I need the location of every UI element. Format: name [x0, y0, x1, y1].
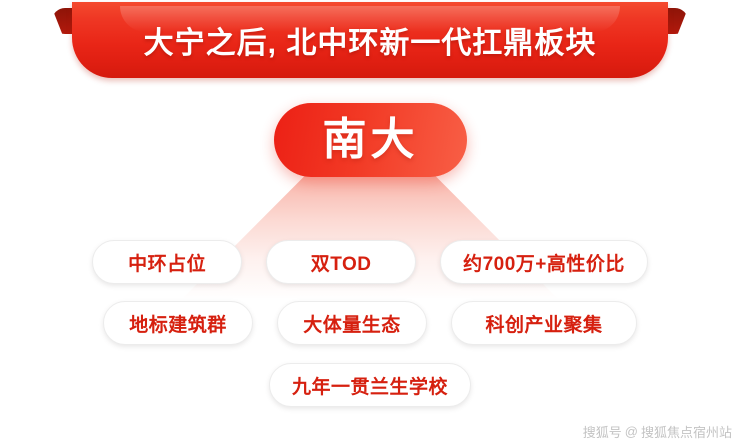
feature-pill[interactable]: 科创产业聚集: [451, 301, 637, 345]
feature-pill[interactable]: 中环占位: [92, 240, 242, 284]
watermark-prefix: 搜狐号: [583, 422, 622, 441]
at-sign-icon: @: [625, 424, 638, 439]
banner-title: 大宁之后, 北中环新一代扛鼎板块: [72, 2, 668, 78]
feature-pill[interactable]: 约700万+高性价比: [440, 240, 648, 284]
feature-pill[interactable]: 九年一贯兰生学校: [269, 363, 471, 407]
watermark: 搜狐号 @ 搜狐焦点宿州站: [583, 422, 732, 441]
feature-row-1: 中环占位 双TOD 约700万+高性价比: [0, 240, 740, 284]
feature-pill[interactable]: 地标建筑群: [103, 301, 253, 345]
brand-badge: 南大: [274, 103, 467, 177]
brand-badge-label: 南大: [323, 118, 419, 162]
feature-row-3: 九年一贯兰生学校: [0, 363, 740, 407]
feature-pill[interactable]: 双TOD: [266, 240, 416, 284]
feature-pill[interactable]: 大体量生态: [277, 301, 427, 345]
promo-poster: 大宁之后, 北中环新一代扛鼎板块 南大 中环占位 双TOD 约700万+高性价比…: [0, 0, 740, 447]
feature-row-2: 地标建筑群 大体量生态 科创产业聚集: [0, 301, 740, 345]
header-ribbon-banner: 大宁之后, 北中环新一代扛鼎板块: [0, 0, 740, 86]
watermark-account: 搜狐焦点宿州站: [641, 422, 732, 441]
